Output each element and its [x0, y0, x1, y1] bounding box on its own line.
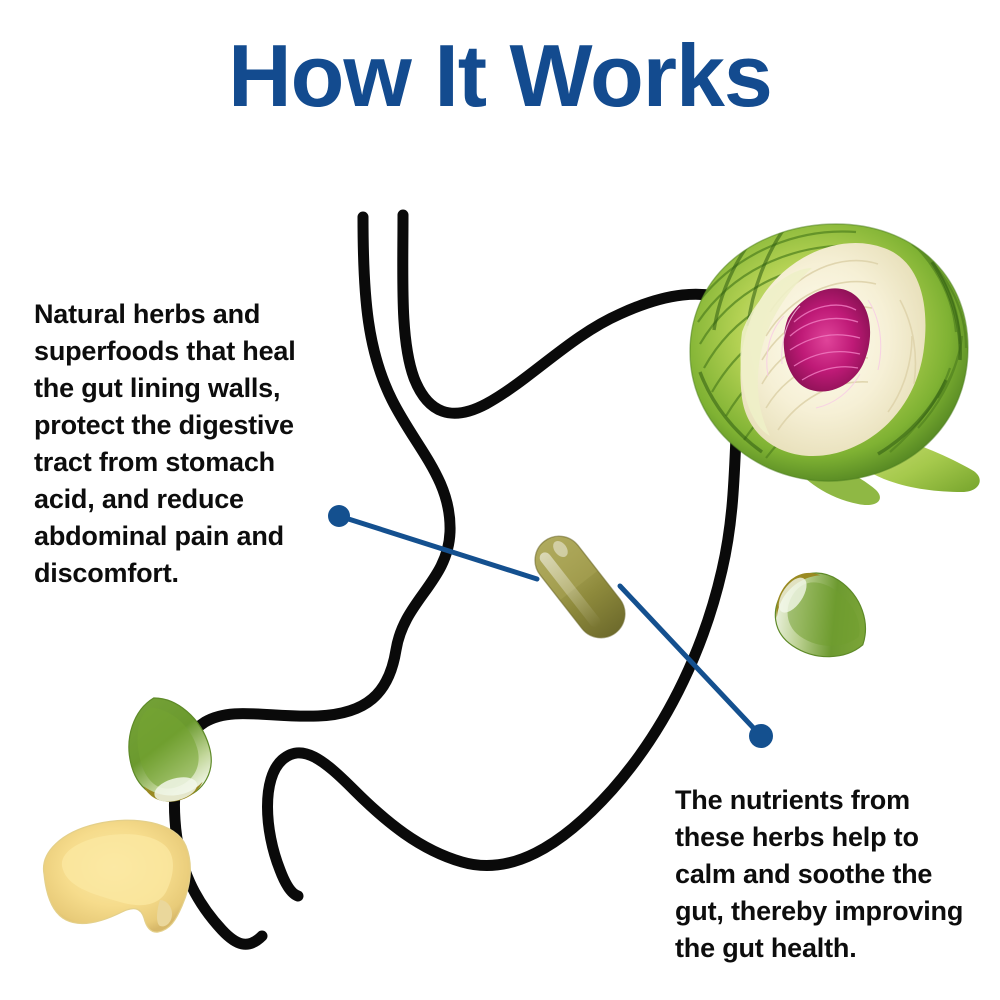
infographic-canvas: How It Works: [0, 0, 1000, 1000]
right-leader-line: [620, 586, 761, 736]
pistachio-kernel-left: [115, 687, 221, 810]
right-callout-leader: [620, 586, 773, 748]
left-callout-text: Natural herbs and superfoods that heal t…: [34, 296, 314, 592]
left-leader-dot: [328, 505, 350, 527]
ginger-slice: [44, 820, 191, 932]
left-callout-leader: [328, 505, 537, 579]
right-callout-text: The nutrients from these herbs help to c…: [675, 782, 975, 967]
pistachio-kernel-right: [760, 557, 886, 678]
right-leader-dot: [749, 724, 773, 748]
